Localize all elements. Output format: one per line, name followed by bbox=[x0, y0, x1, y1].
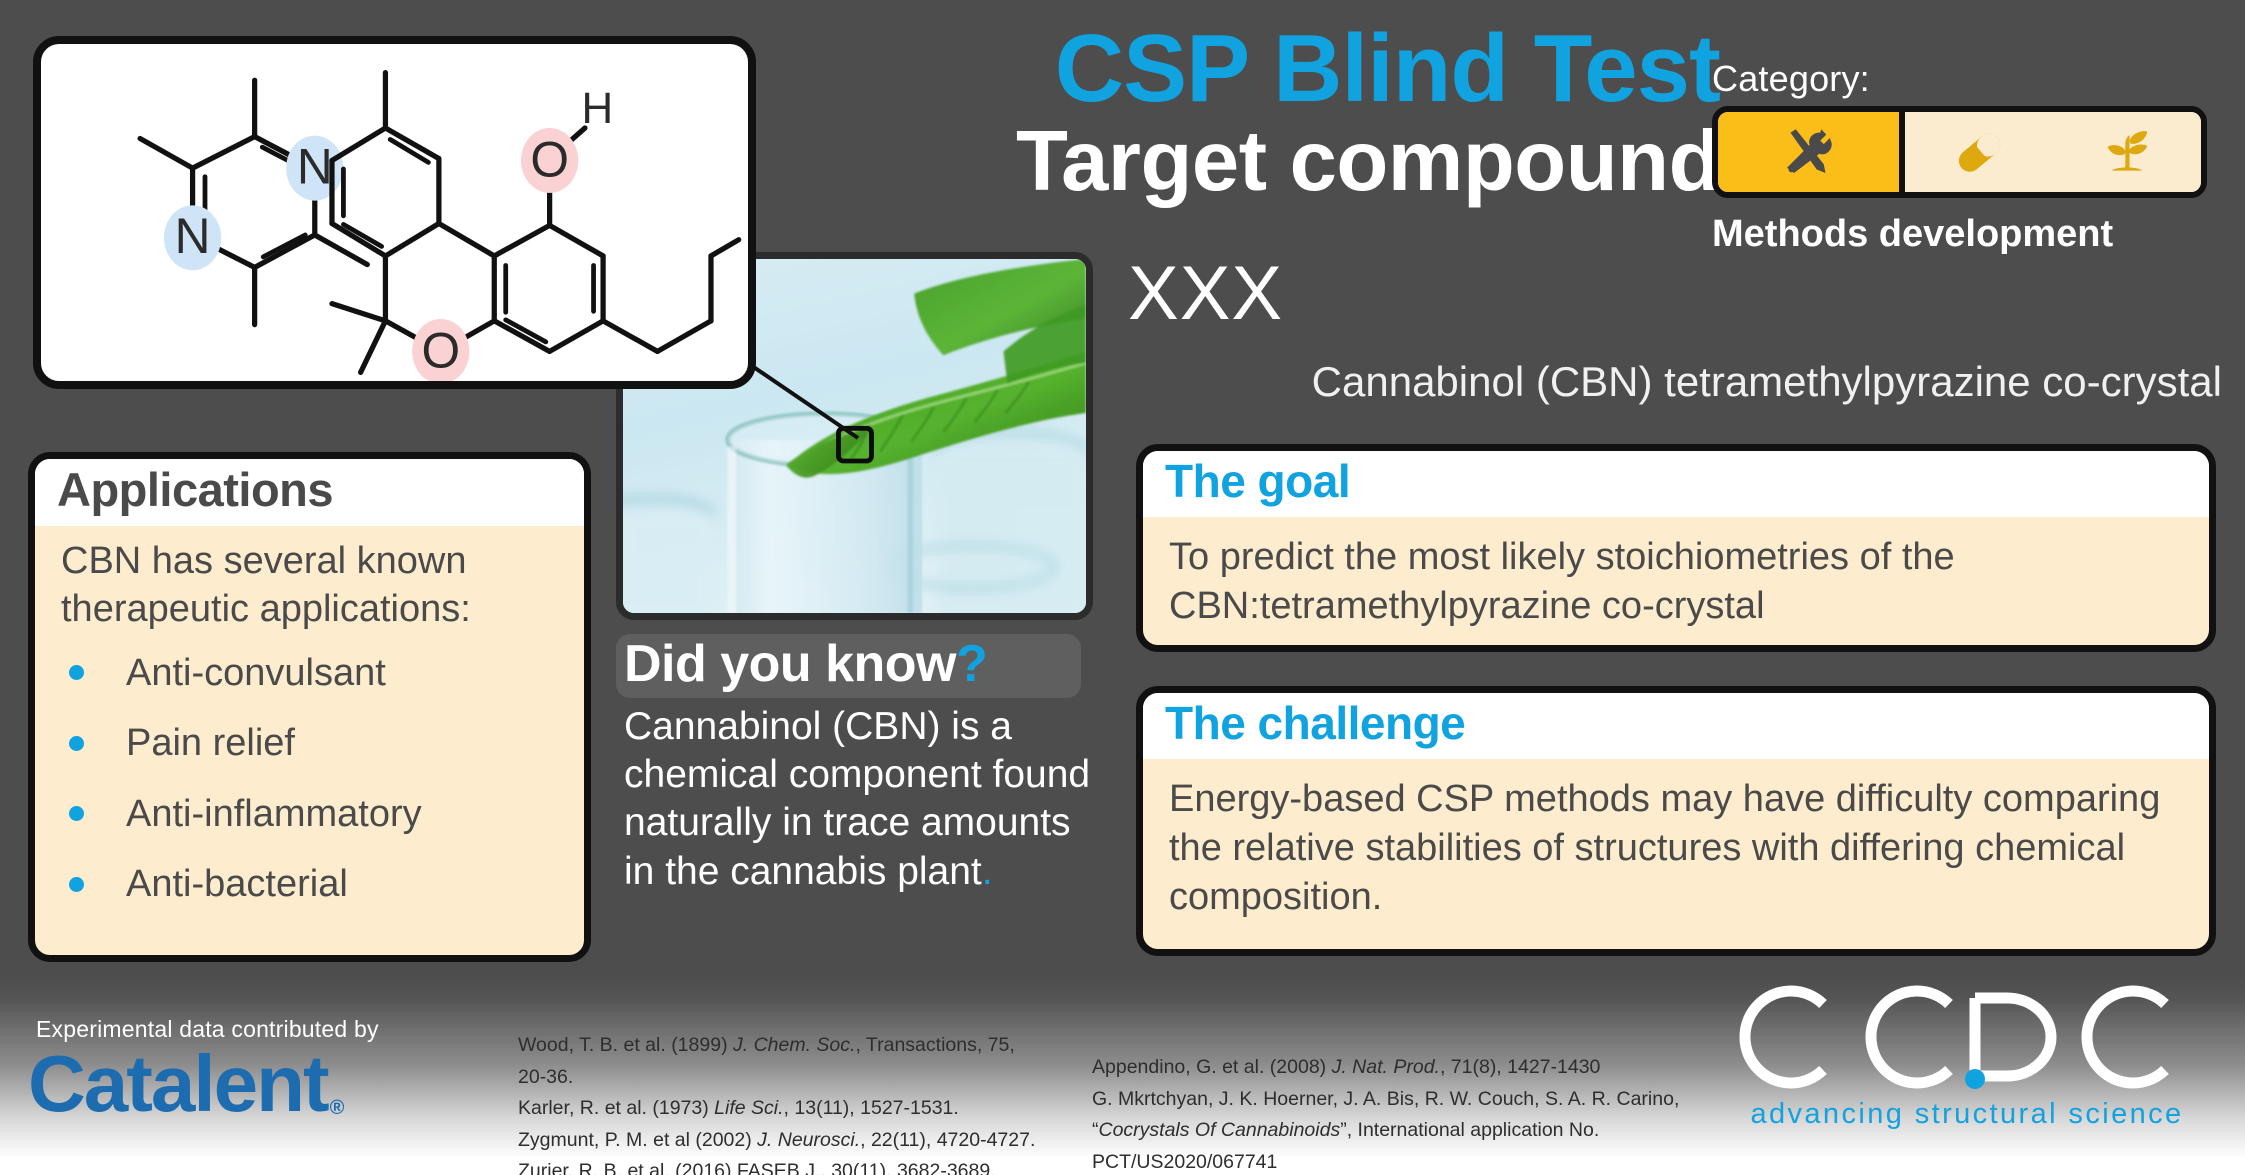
did-you-know-title-text: Did you know bbox=[624, 635, 956, 693]
bullet-dot-icon bbox=[69, 736, 84, 751]
bullet-dot-icon bbox=[69, 806, 84, 821]
pill-icon bbox=[1952, 125, 2006, 179]
applications-title: Applications bbox=[57, 465, 564, 516]
list-item: Pain relief bbox=[69, 718, 560, 769]
category-icon-group[interactable] bbox=[1712, 106, 2207, 198]
goal-header: The goal bbox=[1143, 451, 2209, 517]
reference-entry: Appendino, G. et al. (2008) J. Nat. Prod… bbox=[1092, 1052, 1692, 1084]
compound-name: Cannabinol (CBN) tetramethylpyrazine co-… bbox=[1122, 358, 2222, 406]
atom-label-o1: O bbox=[530, 132, 569, 188]
compound-code: XXX bbox=[1128, 250, 1283, 337]
ccdc-wordmark bbox=[1712, 978, 2222, 1096]
reference-entry: Karler, R. et al. (1973) Life Sci., 13(1… bbox=[518, 1093, 1038, 1125]
application-item-label: Anti-inflammatory bbox=[126, 789, 422, 840]
references-right-column: Appendino, G. et al. (2008) J. Nat. Prod… bbox=[1092, 1052, 1692, 1175]
category-label: Category: bbox=[1712, 58, 2232, 100]
atom-label-n1: N bbox=[175, 208, 211, 264]
category-selected-name: Methods development bbox=[1712, 214, 2232, 256]
atom-label-h: H bbox=[582, 84, 614, 133]
registered-mark-icon: ® bbox=[330, 1097, 343, 1119]
reference-entry: Zurier, R. B. et al. (2016) FASEB J., 30… bbox=[518, 1156, 1038, 1175]
challenge-body: Energy-based CSP methods may have diffic… bbox=[1143, 759, 2209, 941]
reference-entry: Wood, T. B. et al. (1899) J. Chem. Soc.,… bbox=[518, 1030, 1038, 1093]
poster-header: CSP Blind Test Target compound bbox=[780, 22, 1720, 206]
challenge-card: The challenge Energy-based CSP methods m… bbox=[1136, 686, 2216, 956]
list-item: Anti-bacterial bbox=[69, 859, 560, 910]
application-item-label: Pain relief bbox=[126, 718, 295, 769]
application-item-label: Anti-convulsant bbox=[126, 648, 386, 699]
application-item-label: Anti-bacterial bbox=[126, 859, 348, 910]
bullet-dot-icon bbox=[69, 665, 84, 680]
applications-body: CBN has several known therapeutic applic… bbox=[35, 526, 584, 948]
applications-card: Applications CBN has several known thera… bbox=[28, 452, 591, 962]
catalent-logo-text: Catalent bbox=[28, 1039, 328, 1128]
category-block: Category: bbox=[1712, 58, 2232, 256]
atom-label-n2: N bbox=[297, 138, 333, 194]
reference-entry: G. Mkrtchyan, J. K. Hoerner, J. A. Bis, … bbox=[1092, 1084, 1692, 1175]
list-item: Anti-convulsant bbox=[69, 648, 560, 699]
ccdc-logo: advancing structural science bbox=[1712, 978, 2222, 1131]
category-tile-agrochemical[interactable] bbox=[2053, 112, 2201, 192]
applications-header: Applications bbox=[35, 459, 584, 526]
atom-label-o2: O bbox=[421, 323, 460, 379]
molecule-diagram: N N bbox=[41, 44, 748, 381]
ccdc-tagline: advancing structural science bbox=[1712, 1098, 2222, 1131]
catalent-logo: Catalent® bbox=[28, 1044, 340, 1124]
page-title: CSP Blind Test bbox=[780, 22, 1720, 115]
reference-entry: Zygmunt, P. M. et al (2002) J. Neurosci.… bbox=[518, 1125, 1038, 1157]
challenge-title: The challenge bbox=[1165, 699, 2189, 749]
did-you-know-header: Did you know? bbox=[616, 634, 1081, 698]
goal-card: The goal To predict the most likely stoi… bbox=[1136, 444, 2216, 652]
did-you-know-body: Cannabinol (CBN) is a chemical component… bbox=[616, 703, 1094, 896]
category-tile-methods[interactable] bbox=[1718, 112, 1905, 192]
goal-title: The goal bbox=[1165, 457, 2189, 507]
ccdc-blue-dot-icon bbox=[1965, 1069, 1985, 1089]
poster-root: N N bbox=[0, 0, 2245, 1175]
list-item: Anti-inflammatory bbox=[69, 789, 560, 840]
bullet-dot-icon bbox=[69, 877, 84, 892]
did-you-know-body-text: Cannabinol (CBN) is a chemical component… bbox=[624, 705, 1090, 893]
ccdc-letters-icon bbox=[1717, 978, 2217, 1096]
category-tile-pharma[interactable] bbox=[1905, 112, 2053, 192]
did-you-know-qmark: ? bbox=[956, 635, 987, 693]
molecule-structure-callout: N N bbox=[33, 36, 756, 389]
tools-icon bbox=[1780, 124, 1836, 180]
references-left-column: Wood, T. B. et al. (1899) J. Chem. Soc.,… bbox=[518, 1030, 1038, 1175]
did-you-know-end-dot: . bbox=[982, 850, 993, 893]
challenge-header: The challenge bbox=[1143, 693, 2209, 759]
page-subtitle: Target compound bbox=[780, 119, 1720, 206]
plant-icon bbox=[2100, 125, 2154, 179]
goal-body: To predict the most likely stoichiometri… bbox=[1143, 517, 2209, 650]
applications-intro: CBN has several known therapeutic applic… bbox=[61, 538, 560, 634]
did-you-know-title: Did you know? bbox=[624, 637, 1073, 692]
did-you-know-block: Did you know? Cannabinol (CBN) is a chem… bbox=[616, 634, 1096, 896]
